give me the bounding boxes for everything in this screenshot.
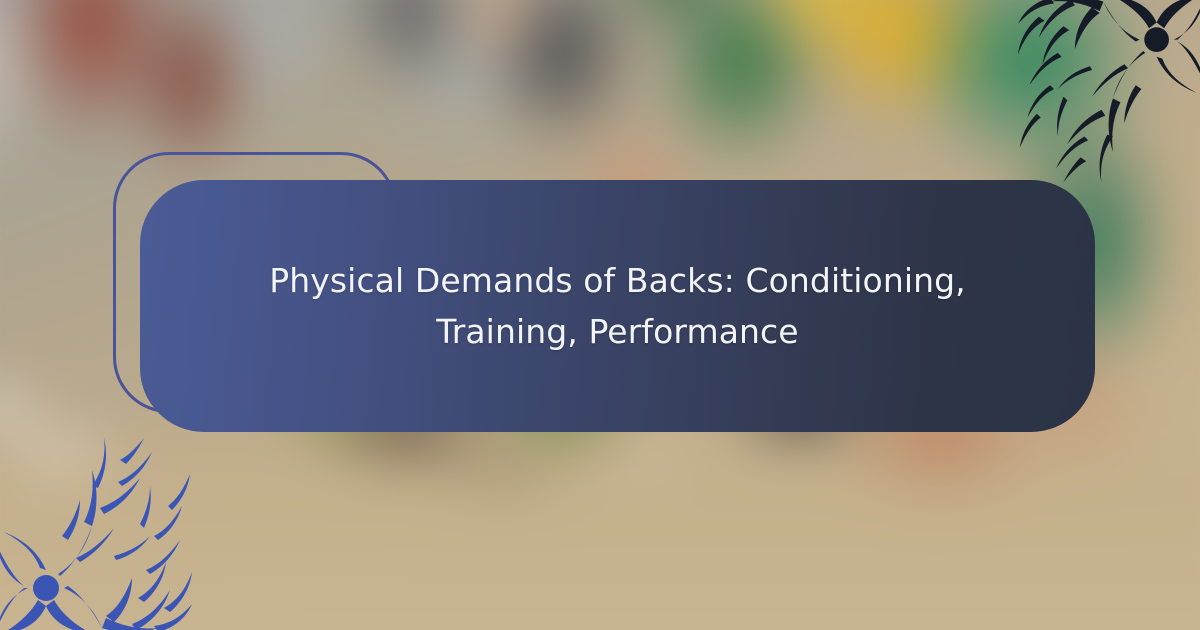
page-title: Physical Demands of Backs: Conditioning,… [188, 255, 1048, 357]
title-card: Physical Demands of Backs: Conditioning,… [140, 180, 1095, 432]
share-card-canvas: Physical Demands of Backs: Conditioning,… [0, 0, 1200, 630]
